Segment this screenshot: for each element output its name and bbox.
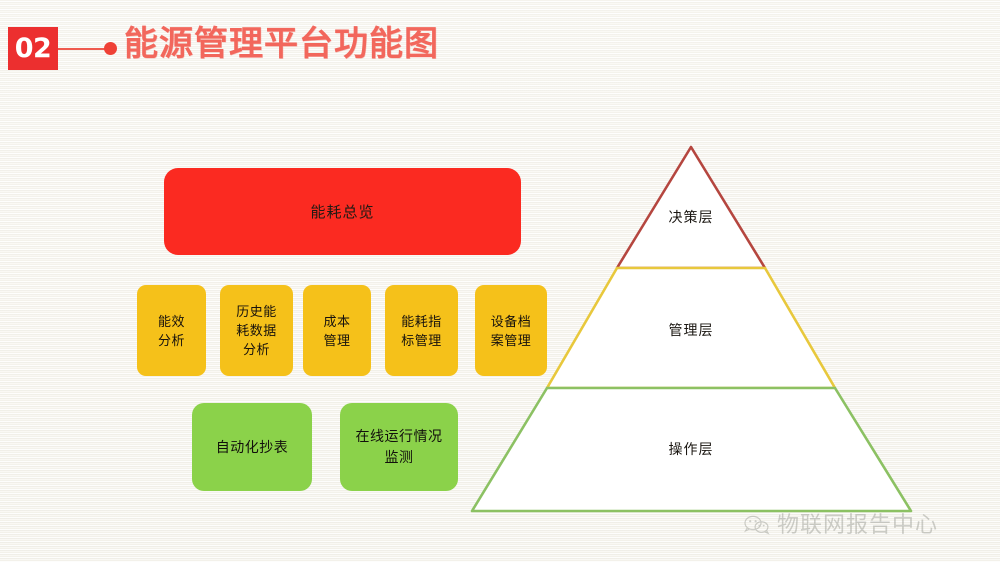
connector-line (58, 48, 108, 50)
page-title: 能源管理平台功能图 (124, 22, 439, 66)
function-block-tier3-2[interactable]: 在线运行情况监测 (340, 403, 458, 491)
function-block-overview-label: 能耗总览 (310, 201, 374, 222)
wechat-icon (744, 514, 770, 536)
section-number-badge: 02 (8, 27, 58, 70)
watermark: 物联网报告中心 (744, 512, 938, 538)
slide-header: 02 能源管理平台功能图 (0, 0, 1000, 100)
function-block-tier2-1-label: 能效分析 (158, 312, 185, 350)
function-block-tier2-3[interactable]: 成本管理 (303, 285, 371, 376)
function-tier3-row: 自动化抄表在线运行情况监测 (192, 403, 462, 491)
pyramid-tier-3-label: 操作层 (669, 439, 714, 459)
watermark-label: 物联网报告中心 (777, 512, 938, 538)
function-block-tier3-2-label: 在线运行情况监测 (356, 426, 443, 468)
slide-canvas: 02 能源管理平台功能图 能耗总览 能效分析历史能耗数据分析成本管理能耗指标管理… (0, 0, 1000, 562)
function-block-tier2-2[interactable]: 历史能耗数据分析 (220, 285, 293, 376)
pyramid-tier-1-label: 决策层 (669, 207, 714, 227)
hierarchy-pyramid: 决策层 管理层 操作层 (455, 135, 935, 535)
connector-dot-icon (104, 42, 117, 55)
function-block-tier2-2-label: 历史能耗数据分析 (236, 302, 277, 359)
function-block-tier2-4[interactable]: 能耗指标管理 (385, 285, 458, 376)
function-block-tier3-1[interactable]: 自动化抄表 (192, 403, 312, 491)
section-number-label: 02 (15, 35, 52, 62)
pyramid-tier-2-label: 管理层 (669, 320, 714, 340)
function-block-tier2-1[interactable]: 能效分析 (137, 285, 206, 376)
function-block-tier2-3-label: 成本管理 (323, 312, 350, 350)
function-block-tier2-4-label: 能耗指标管理 (401, 312, 442, 350)
function-block-tier3-1-label: 自动化抄表 (216, 437, 289, 458)
